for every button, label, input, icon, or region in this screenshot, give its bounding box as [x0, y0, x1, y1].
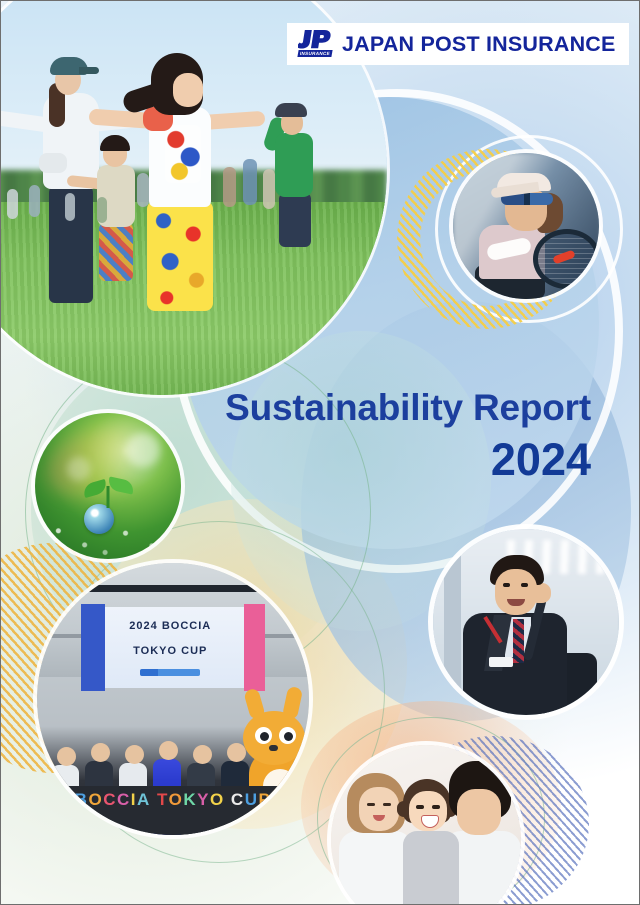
- park-person-man-legs: [279, 193, 311, 247]
- photo-wheelchair-tennis: [453, 153, 599, 299]
- family-child-body: [403, 831, 459, 905]
- boccia-stage-letter: O: [210, 790, 225, 809]
- boccia-stage-letter: U: [245, 790, 259, 809]
- boccia-stage-letter: C: [231, 790, 245, 809]
- family-child-eye-right: [432, 805, 440, 809]
- staff-name-badge: [489, 657, 513, 667]
- family-mother-body: [339, 831, 413, 905]
- park-person-mother-cap-bill: [79, 67, 99, 74]
- park-crowd-figure: [29, 185, 40, 217]
- boccia-participant-head: [125, 745, 144, 764]
- boccia-participant-head: [91, 743, 110, 762]
- boccia-banner-line-1: 2024 BOCCIA: [91, 620, 249, 632]
- staff-door-pillar: [444, 555, 461, 689]
- report-year: 2024: [1, 437, 591, 482]
- park-person-boy-pants: [99, 223, 133, 281]
- boccia-banner-sponsor-logo: [140, 669, 200, 676]
- staff-eye-left: [503, 583, 510, 587]
- japan-post-insurance-logo-mark: INSURANCE: [297, 29, 333, 59]
- seedling-water-globe: [84, 504, 114, 534]
- boccia-stage-letter: O: [169, 790, 184, 809]
- boccia-stage-letter: Y: [197, 790, 210, 809]
- photo-boccia-tokyo-cup: 2024 BOCCIA TOKYO CUP BOCCIA TOKYO: [37, 563, 309, 835]
- family-child-eye-left: [416, 805, 424, 809]
- logo-mark-subtitle: INSURANCE: [297, 50, 332, 57]
- boccia-participant-head: [57, 747, 76, 766]
- seedling-stem: [107, 486, 110, 508]
- jp-monogram-icon: [298, 29, 332, 49]
- boccia-mascot-head: [243, 711, 305, 765]
- park-crowd-figure: [65, 193, 75, 221]
- boccia-mascot-nose: [269, 745, 278, 751]
- report-cover-page: 2024 BOCCIA TOKYO CUP BOCCIA TOKYO: [0, 0, 640, 905]
- boccia-participant-head: [159, 741, 178, 760]
- brand-wordmark: JAPAN POST INSURANCE: [342, 32, 616, 57]
- park-crowd-figure: [7, 189, 18, 219]
- park-person-mother-bag: [39, 153, 67, 173]
- boccia-participant-head: [227, 743, 246, 762]
- boccia-banner-line-2: TOKYO CUP: [91, 645, 249, 657]
- family-mother-face: [359, 787, 399, 831]
- staff-necktie: [513, 619, 524, 663]
- boccia-stage-letter: K: [183, 790, 197, 809]
- park-person-man-body: [275, 133, 313, 197]
- boccia-stage-front-text: BOCCIA TOKYO CUP: [37, 790, 309, 810]
- boccia-truss-beam: [53, 585, 292, 592]
- cover-title-block: Sustainability Report 2024: [1, 389, 591, 482]
- park-crowd-figure: [263, 169, 275, 209]
- park-crowd-figure: [243, 159, 257, 205]
- park-person-man-cap: [275, 103, 307, 117]
- boccia-stage-letter: C: [103, 790, 117, 809]
- park-crowd-figure: [137, 173, 149, 207]
- family-mother-eye-left: [367, 803, 375, 806]
- staff-eye-right: [521, 583, 528, 587]
- boccia-stage-letter: O: [88, 790, 103, 809]
- boccia-mascot-pupil-left: [260, 732, 269, 741]
- photo-postal-employee: [433, 529, 619, 715]
- family-mother-eye-right: [383, 803, 391, 806]
- family-father-face: [457, 789, 501, 835]
- boccia-stage-letter: C: [117, 790, 131, 809]
- park-person-girl-face: [173, 73, 203, 107]
- brand-logo-bar: INSURANCE JAPAN POST INSURANCE: [287, 23, 629, 65]
- park-crowd-figure: [223, 167, 236, 207]
- boccia-stage-letter: A: [137, 790, 151, 809]
- boccia-mascot-pupil-right: [284, 732, 293, 741]
- boccia-stage-letter: T: [157, 790, 169, 809]
- report-title: Sustainability Report: [1, 389, 591, 426]
- boccia-stage-letter: P: [258, 790, 271, 809]
- staff-face: [495, 569, 537, 615]
- boccia-participant-head: [193, 745, 212, 764]
- boccia-stage-letter: B: [75, 790, 89, 809]
- park-crowd-figure: [97, 197, 107, 223]
- park-person-girl-shirt-graphic: [165, 125, 201, 183]
- park-person-girl-pants: [147, 201, 213, 311]
